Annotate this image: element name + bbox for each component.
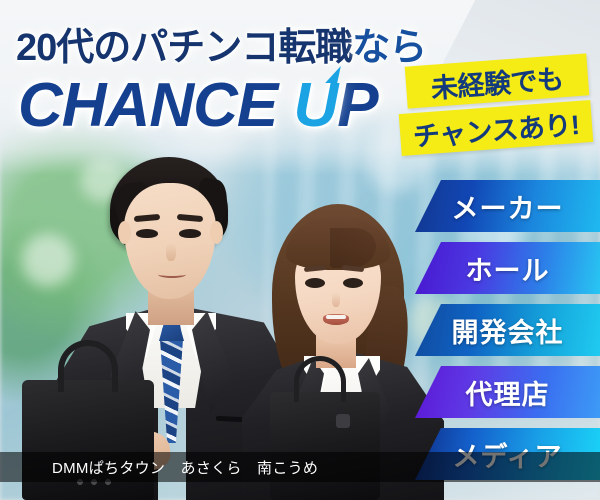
category-tag-maker-label: メーカー bbox=[452, 187, 564, 226]
pachinko-career-ad-banner[interactable]: 20代のパチンコ転職なら CHANCE UP 未経験でも チャンスあり! メーカ… bbox=[0, 0, 600, 500]
category-tag-hall-label: ホール bbox=[466, 249, 550, 288]
category-tag-maker[interactable]: メーカー bbox=[415, 180, 600, 232]
category-tag-development-company[interactable]: 開発会社 bbox=[415, 304, 600, 356]
category-tag-development-company-label: 開発会社 bbox=[452, 311, 564, 350]
category-tag-hall[interactable]: ホール bbox=[415, 242, 600, 294]
credit-text: DMMぱちタウン あさくら 南こうめ bbox=[0, 457, 318, 478]
category-tag-agency[interactable]: 代理店 bbox=[415, 366, 600, 418]
credit-bar: DMMぱちタウン あさくら 南こうめ bbox=[0, 452, 600, 482]
category-tag-agency-label: 代理店 bbox=[466, 373, 550, 412]
category-tag-list: メーカー ホール 開発会社 代理店 メディア bbox=[0, 0, 600, 500]
